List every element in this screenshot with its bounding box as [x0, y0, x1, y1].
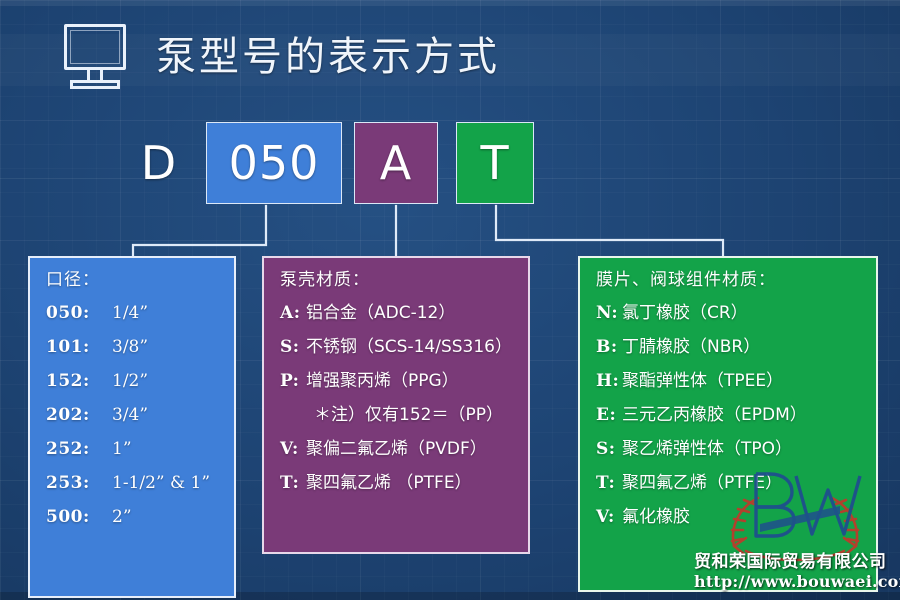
legend-desc: 1/4” — [112, 305, 148, 322]
legend-desc: 聚乙烯弹性体（TPO） — [622, 441, 792, 458]
legend-item: S: 不锈钢（SCS-14/SS316） — [280, 339, 516, 356]
legend-desc: 3/8” — [112, 339, 148, 356]
legend-item: T: 聚四氟乙烯 （PTFE） — [280, 475, 516, 492]
legend-desc: 三元乙丙橡胶（EPDM） — [622, 407, 807, 424]
legend-code: H: — [596, 373, 614, 390]
legend-item: N: 氯丁橡胶（CR） — [596, 305, 864, 322]
legend-item: P: 增强聚丙烯（PPG） — [280, 373, 516, 390]
code-token-diaphragm[interactable]: T — [456, 122, 534, 204]
panel-title-housing: 泵壳材质： — [280, 272, 516, 289]
monitor-neck — [87, 70, 103, 80]
legend-item: 500: 2” — [46, 509, 222, 526]
legend-desc: 聚偏二氟乙烯（PVDF） — [306, 441, 487, 458]
legend-code: P: — [280, 373, 298, 390]
legend-item: E: 三元乙丙橡胶（EPDM） — [596, 407, 864, 424]
legend-item: T: 聚四氟乙烯（PTFE） — [596, 475, 864, 492]
legend-code: 202: — [46, 407, 94, 424]
legend-desc: 1/2” — [112, 373, 148, 390]
legend-item: 252: 1” — [46, 441, 222, 458]
legend-code: 050: — [46, 305, 94, 322]
legend-item: A: 铝合金（ADC-12） — [280, 305, 516, 322]
legend-code: 152: — [46, 373, 94, 390]
legend-desc: 1-1/2” & 1” — [112, 475, 210, 492]
legend-code: S: — [596, 441, 614, 458]
legend-code: T: — [596, 475, 614, 492]
legend-code: A: — [280, 305, 298, 322]
code-token-prefix[interactable]: D — [130, 122, 188, 204]
legend-item: B: 丁腈橡胶（NBR） — [596, 339, 864, 356]
legend-desc: 增强聚丙烯（PPG） — [306, 373, 459, 390]
legend-item: 253: 1-1/2” & 1” — [46, 475, 222, 492]
code-token-housing[interactable]: A — [354, 122, 438, 204]
legend-code: V: — [280, 441, 298, 458]
legend-item: 152: 1/2” — [46, 373, 222, 390]
legend-code: 101: — [46, 339, 94, 356]
legend-code: T: — [280, 475, 298, 492]
legend-desc: 3/4” — [112, 407, 148, 424]
page-title: 泵型号的表示方式 — [156, 37, 500, 77]
legend-desc: 丁腈橡胶（NBR） — [622, 339, 760, 356]
legend-desc: 聚酯弹性体（TPEE） — [622, 373, 783, 390]
legend-code: B: — [596, 339, 614, 356]
legend-desc: 聚四氟乙烯（PTFE） — [622, 475, 782, 492]
legend-item: V: 氟化橡胶 — [596, 509, 864, 526]
legend-item: 101: 3/8” — [46, 339, 222, 356]
top-accent-band — [0, 0, 900, 6]
legend-note-text: ＊注）仅有152＝（PP） — [314, 407, 503, 424]
connector-diaphragm — [496, 206, 723, 256]
legend-desc: 铝合金（ADC-12） — [306, 305, 455, 322]
legend-desc: 2” — [112, 509, 132, 526]
legend-code: N: — [596, 305, 614, 322]
panel-title-bore: 口径： — [46, 272, 222, 289]
legend-item: S: 聚乙烯弹性体（TPO） — [596, 441, 864, 458]
monitor-base — [70, 80, 120, 89]
slide-canvas: 泵型号的表示方式 D 050 A T 口径： 050: 1/4” 101: 3/… — [0, 0, 900, 600]
legend-desc: 氟化橡胶 — [622, 509, 690, 526]
code-token-bore[interactable]: 050 — [206, 122, 342, 204]
legend-item: 050: 1/4” — [46, 305, 222, 322]
legend-code: 500: — [46, 509, 94, 526]
legend-desc: 1” — [112, 441, 132, 458]
legend-item: H: 聚酯弹性体（TPEE） — [596, 373, 864, 390]
panel-title-diaphragm: 膜片、阀球组件材质： — [596, 272, 864, 289]
legend-code: V: — [596, 509, 614, 526]
legend-code: S: — [280, 339, 298, 356]
legend-panel-housing: 泵壳材质： A: 铝合金（ADC-12） S: 不锈钢（SCS-14/SS316… — [262, 256, 530, 554]
legend-code: E: — [596, 407, 614, 424]
connector-bore — [133, 206, 266, 256]
legend-code: 252: — [46, 441, 94, 458]
legend-panel-bore: 口径： 050: 1/4” 101: 3/8” 152: 1/2” 202: 3… — [28, 256, 236, 598]
monitor-screen — [64, 24, 126, 70]
legend-desc: 氯丁橡胶（CR） — [622, 305, 748, 322]
legend-item-note: ＊注）仅有152＝（PP） — [280, 407, 516, 424]
legend-item: V: 聚偏二氟乙烯（PVDF） — [280, 441, 516, 458]
legend-item: 202: 3/4” — [46, 407, 222, 424]
legend-desc: 不锈钢（SCS-14/SS316） — [306, 339, 512, 356]
monitor-icon — [62, 24, 134, 90]
legend-desc: 聚四氟乙烯 （PTFE） — [306, 475, 472, 492]
legend-panel-diaphragm: 膜片、阀球组件材质： N: 氯丁橡胶（CR） B: 丁腈橡胶（NBR） H: 聚… — [578, 256, 878, 592]
slide-header: 泵型号的表示方式 — [62, 24, 500, 90]
legend-code: 253: — [46, 475, 94, 492]
